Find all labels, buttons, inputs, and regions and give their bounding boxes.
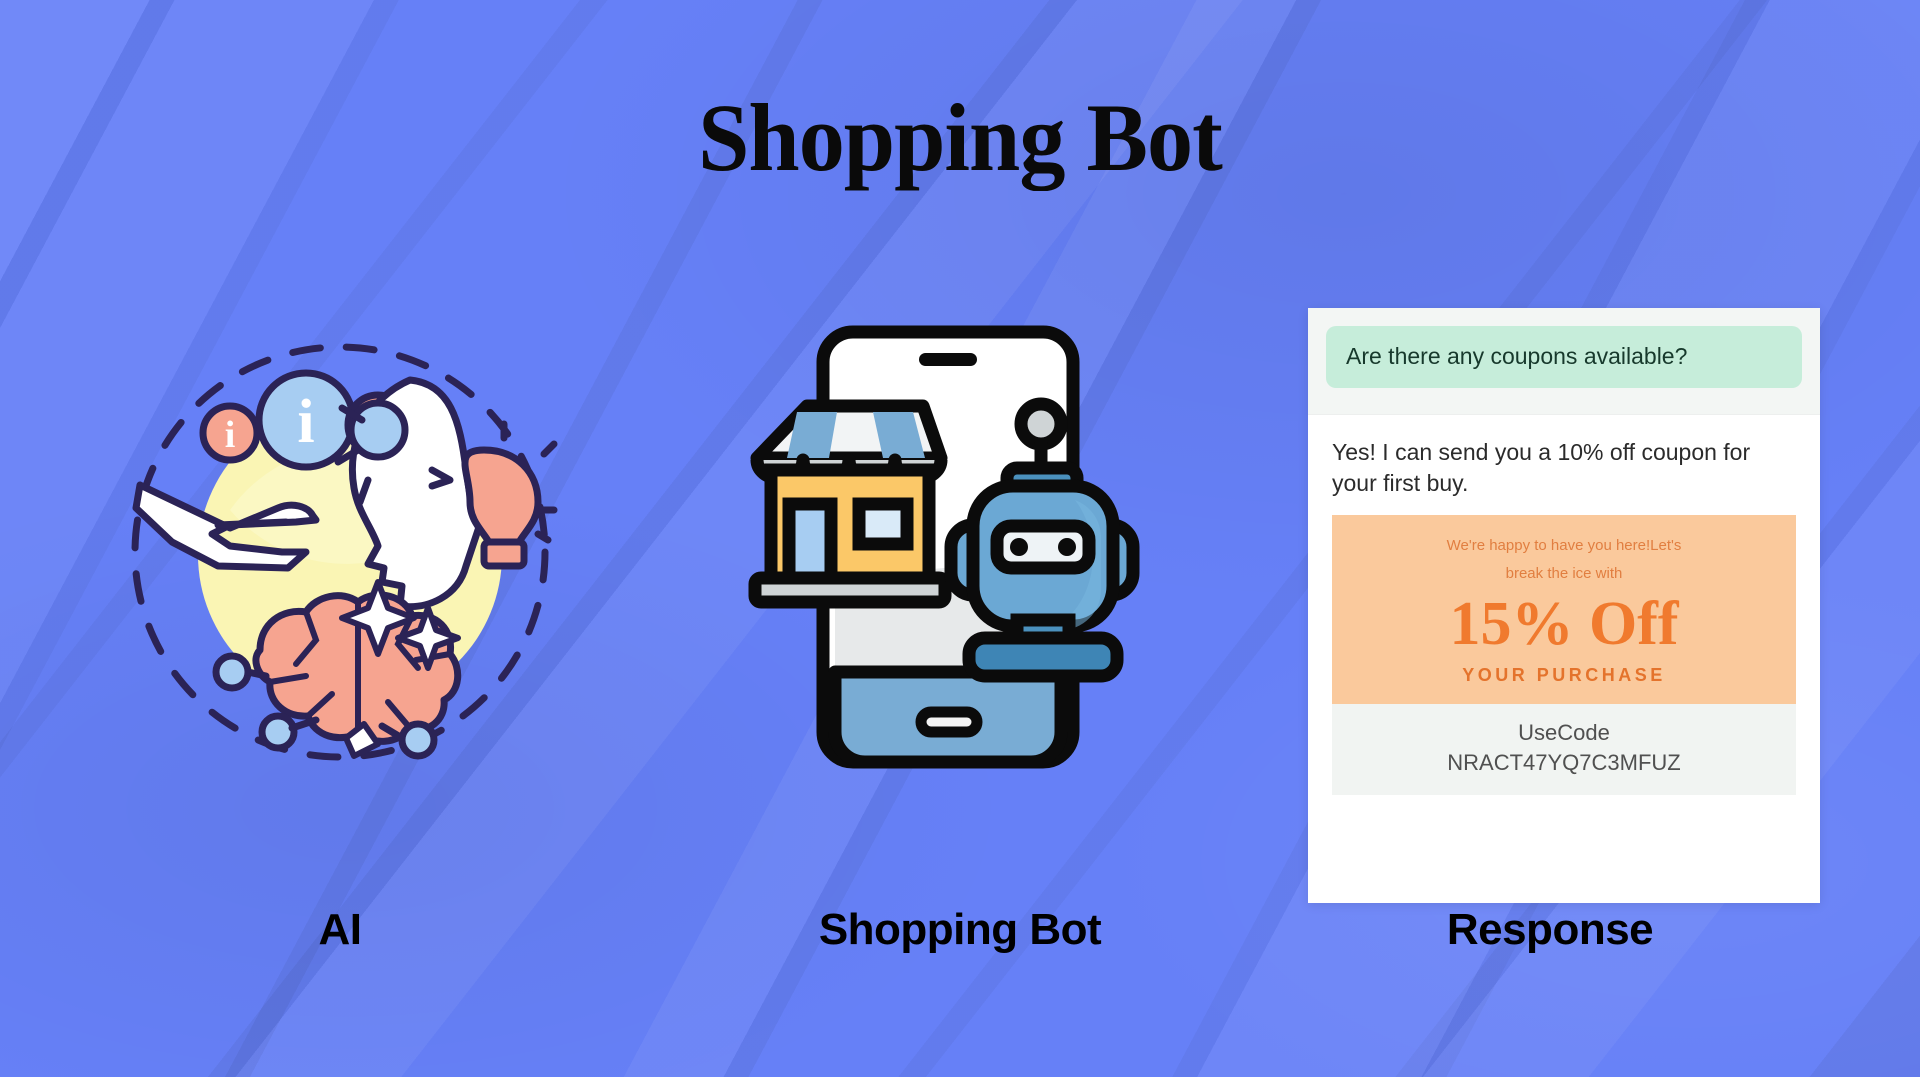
- coupon-headline-line1: We're happy to have you here!Let's: [1399, 535, 1729, 558]
- coupon-banner: We're happy to have you here!Let's break…: [1332, 515, 1796, 704]
- coupon-subtitle: YOUR PURCHASE: [1348, 665, 1780, 686]
- coupon-code-box[interactable]: UseCode NRACT47YQ7C3MFUZ: [1332, 704, 1796, 795]
- caption-shopping-bot: Shopping Bot: [680, 905, 1240, 955]
- coupon-discount-value: 15% Off: [1348, 592, 1780, 657]
- ai-illustration-wrapper: i i i: [60, 280, 620, 820]
- phone-store-robot-illustration: [745, 320, 1175, 780]
- caption-ai: AI: [60, 905, 620, 955]
- chat-body-area: Yes! I can send you a 10% off coupon for…: [1308, 414, 1820, 812]
- bot-message-text: Yes! I can send you a 10% off coupon for…: [1332, 437, 1796, 499]
- svg-text:i: i: [297, 388, 314, 456]
- chat-response-card: Are there any coupons available? Yes! I …: [1308, 308, 1820, 903]
- column-ai: i i i: [60, 280, 620, 920]
- ai-brain-illustration: i i i: [110, 320, 570, 780]
- shopping-bot-illustration-wrapper: [680, 280, 1240, 820]
- caption-response: Response: [1270, 905, 1830, 955]
- page-title: Shopping Bot: [38, 88, 1881, 189]
- user-message-bubble: Are there any coupons available?: [1326, 326, 1802, 388]
- coupon-code-label: UseCode: [1342, 718, 1786, 748]
- chat-header-area: Are there any coupons available?: [1308, 308, 1820, 414]
- coupon-headline-line2: break the ice with: [1399, 563, 1729, 586]
- column-shopping-bot: [680, 280, 1240, 920]
- coupon-code-value: NRACT47YQ7C3MFUZ: [1342, 748, 1786, 778]
- svg-text:i: i: [225, 414, 236, 456]
